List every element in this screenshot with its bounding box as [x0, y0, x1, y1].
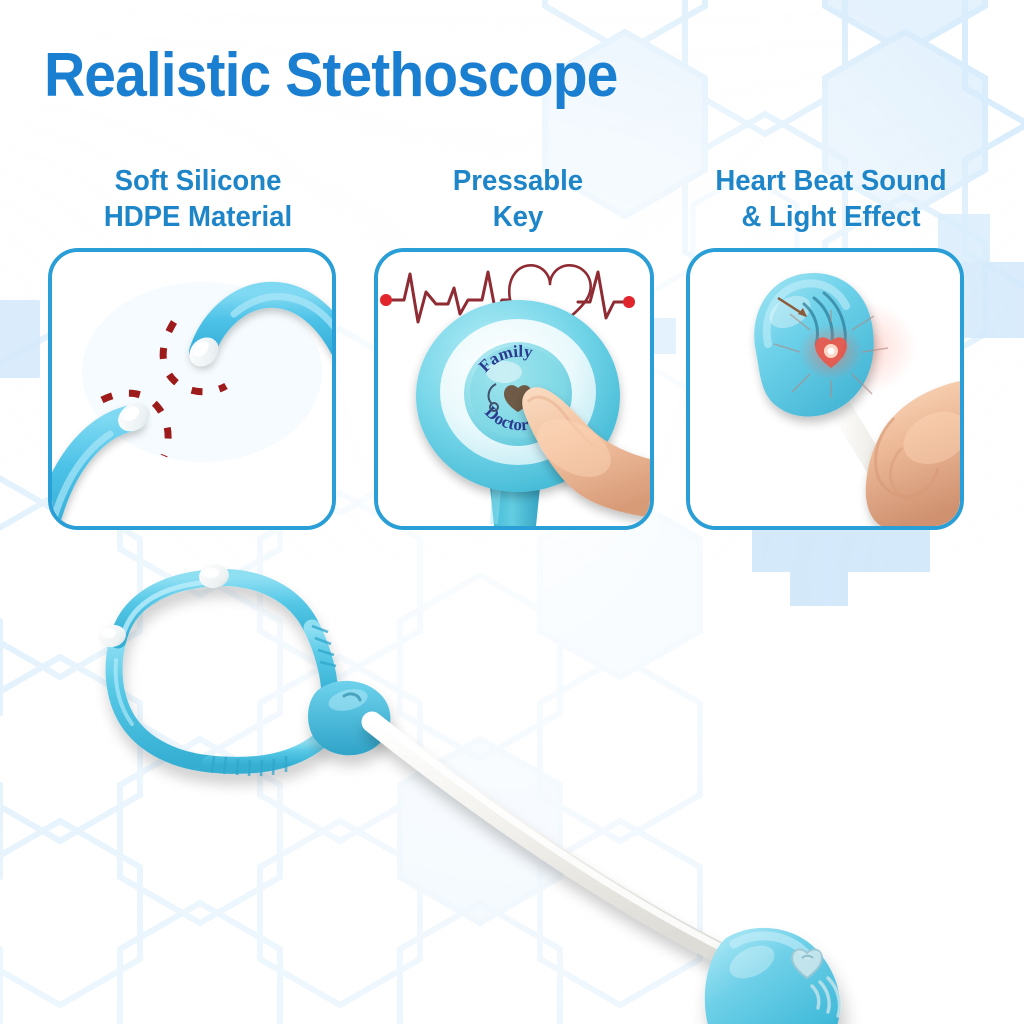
cross-accent-left [0, 300, 40, 378]
pressable-key-illustration: Family Doctor [378, 252, 650, 526]
feature-caption-pressable-key: Pressable Key [380, 163, 656, 235]
product-hero-image [0, 520, 1024, 1024]
binaural-headset [114, 577, 330, 765]
soft-silicone-illustration [52, 252, 332, 526]
chestpiece [705, 928, 840, 1024]
infographic-canvas: Realistic Stethoscope Soft Silicone HDPE… [0, 0, 1024, 1024]
stethoscope-illustration [0, 520, 1024, 1024]
caption-line-1: Pressable [453, 165, 583, 197]
feature-panel-pressable-key: Family Doctor [374, 248, 654, 530]
main-tube [372, 720, 742, 964]
caption-line-1: Heart Beat Sound [715, 165, 946, 197]
caption-line-1: Soft Silicone [115, 165, 282, 197]
feature-panel-soft-silicone [48, 248, 336, 530]
feature-caption-heart-beat-sound: Heart Beat Sound & Light Effect [680, 163, 982, 235]
feature-caption-soft-silicone: Soft Silicone HDPE Material [46, 163, 350, 235]
heartbeat-light-illustration [690, 252, 960, 526]
feature-panel-heart-beat-sound [686, 248, 964, 530]
caption-line-2: & Light Effect [680, 199, 982, 235]
caption-line-2: HDPE Material [46, 199, 350, 235]
page-title: Realistic Stethoscope [44, 44, 762, 108]
caption-line-2: Key [380, 199, 656, 235]
